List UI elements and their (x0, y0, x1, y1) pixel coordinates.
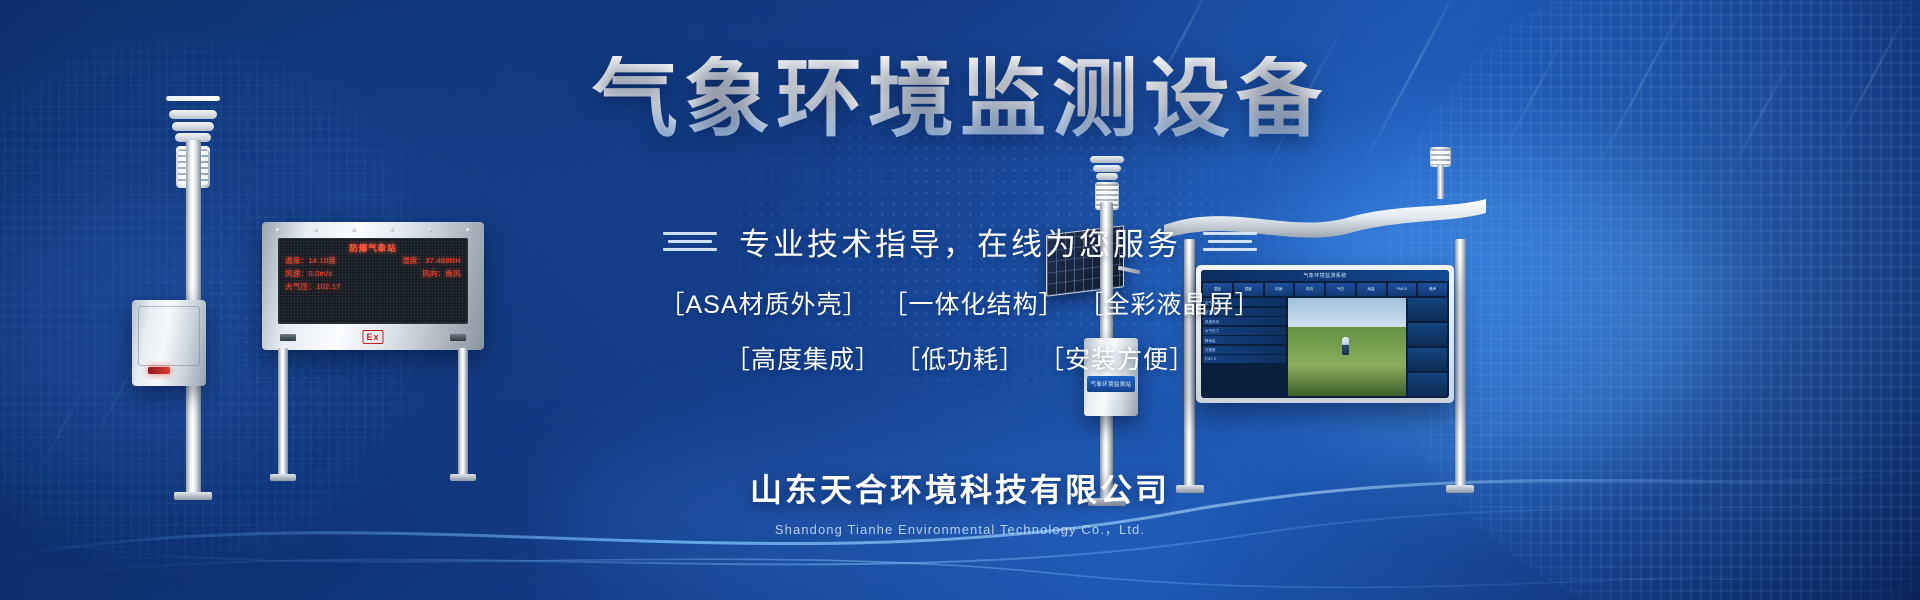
billboard-leg-right (458, 348, 468, 480)
kiosk-lcd-panel: 气象环境监测系统 温度 湿度 风速 风向 气压 雨量 PM2.5 噪声 空气温度… (1196, 265, 1454, 403)
kiosk-tile: 噪声 (1418, 283, 1447, 296)
instrument-enclosure-box (132, 300, 206, 386)
kiosk-mini-mast (1420, 147, 1460, 199)
kiosk-canopy (1160, 195, 1490, 241)
kiosk-video-feed (1288, 298, 1406, 396)
wind-vane-icon (166, 96, 220, 101)
kiosk-widget (1408, 298, 1447, 321)
led-screen: 防爆气象站 温度：14.10度 湿度：37.488RH 风速：0.0m/s 风向… (278, 238, 468, 324)
led-line-3-left: 大气压：102.17 (285, 281, 341, 293)
kiosk-screen-body: 空气温度 空气湿度 风速风向 大气压力 降雨量 光照度 PM2.5 (1201, 298, 1449, 398)
kiosk-side-row: 大气压力 (1203, 327, 1286, 335)
anemometer-cup-2 (172, 122, 214, 131)
billboard-frame: 防爆气象站 温度：14.10度 湿度：37.488RH 风速：0.0m/s 风向… (262, 222, 484, 350)
kiosk-video-subject (1342, 337, 1349, 355)
kiosk-side-row: 光照度 (1203, 346, 1286, 354)
station-base (1088, 498, 1126, 506)
led-line-2-left: 风速：0.0m/s (285, 268, 332, 280)
mast-base (174, 492, 212, 500)
kiosk-foot-left (1176, 485, 1204, 493)
kiosk-metric-tiles: 温度 湿度 风速 风向 气压 雨量 PM2.5 噪声 (1201, 281, 1449, 298)
kiosk-side-list: 空气温度 空气湿度 风速风向 大气压力 降雨量 光照度 PM2.5 (1203, 298, 1286, 396)
kiosk-widget (1408, 348, 1447, 371)
kiosk-lcd-screen: 气象环境监测系统 温度 湿度 风速 风向 气压 雨量 PM2.5 噪声 空气温度… (1201, 270, 1449, 398)
lcd-kiosk: 气象环境监测系统 温度 湿度 风速 风向 气压 雨量 PM2.5 噪声 空气温度… (1160, 195, 1490, 495)
enclosure-led-indicator (148, 367, 170, 374)
billboard-bolts (276, 228, 470, 234)
led-line-2-right: 风向：南风 (422, 268, 461, 280)
led-billboard: 防爆气象站 温度：14.10度 湿度：37.488RH 风速：0.0m/s 风向… (262, 222, 484, 480)
kiosk-tile: 风速 (1265, 283, 1294, 296)
kiosk-leg-right (1455, 239, 1466, 489)
kiosk-tile: 温度 (1203, 283, 1232, 296)
led-line-1-left: 温度：14.10度 (285, 255, 336, 267)
billboard-plate-right (450, 334, 466, 341)
kiosk-widget (1408, 373, 1447, 396)
kiosk-tile: 风向 (1295, 283, 1324, 296)
billboard-foot-left (270, 474, 296, 481)
kiosk-tile: PM2.5 (1388, 283, 1417, 296)
billboard-plate-left (280, 334, 296, 341)
weather-mast-left (158, 80, 228, 500)
kiosk-foot-right (1446, 485, 1474, 493)
kiosk-tile: 雨量 (1357, 283, 1386, 296)
kiosk-tile: 气压 (1326, 283, 1355, 296)
led-screen-line-2: 风速：0.0m/s 风向：南风 (285, 268, 461, 280)
kiosk-right-widgets (1408, 298, 1447, 396)
billboard-leg-left (278, 348, 288, 480)
anemometer-cup-1 (169, 110, 217, 119)
led-line-1-right: 湿度：37.488RH (402, 255, 461, 267)
led-screen-title: 防爆气象站 (285, 243, 461, 254)
kiosk-widget (1408, 323, 1447, 346)
banner-root: 防爆气象站 温度：14.10度 湿度：37.488RH 风速：0.0m/s 风向… (0, 0, 1920, 600)
kiosk-side-row: 降雨量 (1203, 336, 1286, 344)
kiosk-side-row: 风速风向 (1203, 317, 1286, 325)
led-screen-line-1: 温度：14.10度 湿度：37.488RH (285, 255, 461, 267)
kiosk-sensor-shield (1430, 147, 1451, 167)
kiosk-leg-left (1184, 239, 1195, 489)
billboard-foot-right (450, 474, 476, 481)
station-name-plate: 气象环境监测站 (1087, 376, 1135, 392)
ex-explosion-proof-mark: Ex (362, 330, 383, 344)
kiosk-sensor-pole (1437, 165, 1444, 199)
kiosk-side-row: PM2.5 (1203, 355, 1286, 363)
solar-weather-station: 气象环境监测站 (1040, 150, 1180, 490)
kiosk-side-row: 空气湿度 (1203, 308, 1286, 316)
kiosk-side-row: 空气温度 (1203, 298, 1286, 306)
kiosk-tile: 湿度 (1234, 283, 1263, 296)
led-screen-line-3: 大气压：102.17 (285, 281, 461, 293)
kiosk-screen-header: 气象环境监测系统 (1201, 270, 1449, 281)
